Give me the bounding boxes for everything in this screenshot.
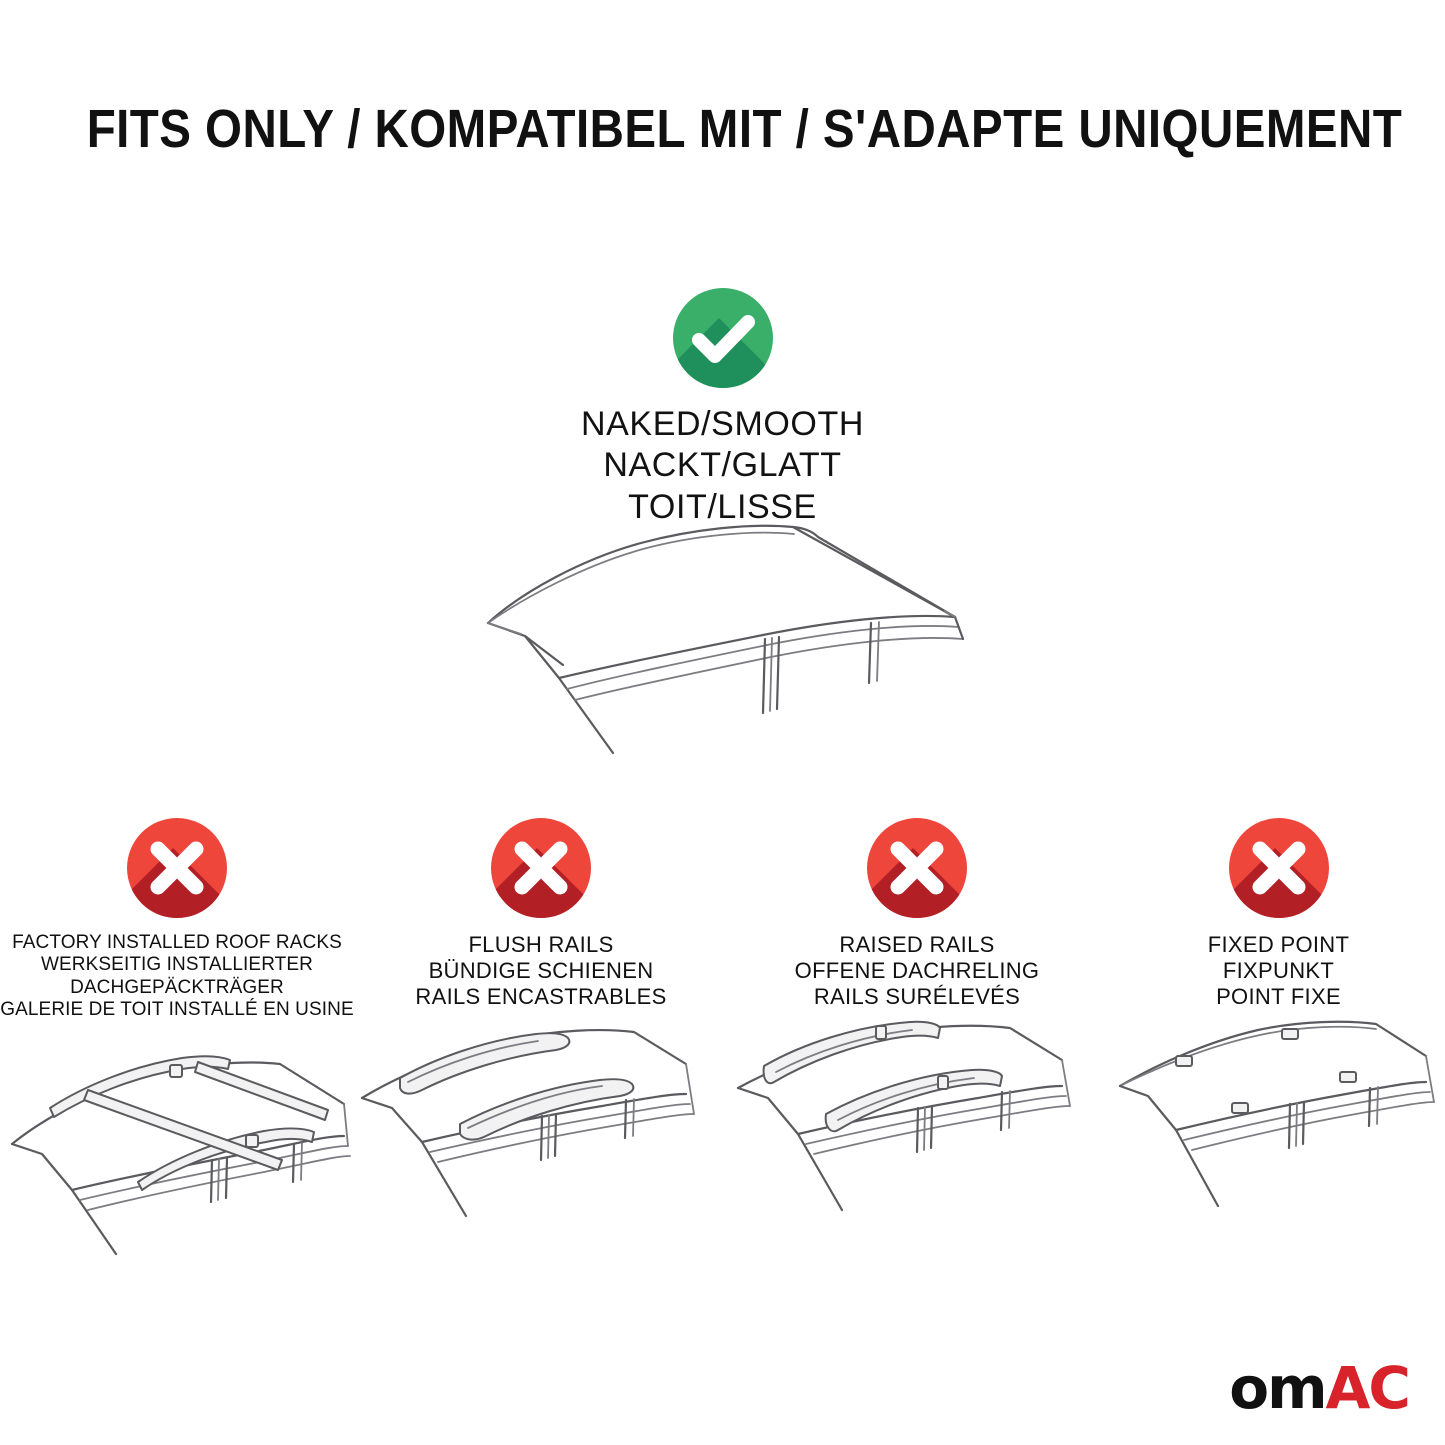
- label-en: FLUSH RAILS: [415, 932, 666, 958]
- car-roof-fixed-point-illustration: [1114, 1020, 1444, 1250]
- label-fr: RAILS SURÉLEVÉS: [795, 984, 1040, 1010]
- incompatible-section: FACTORY INSTALLED ROOF RACKS WERKSEITIG …: [0, 818, 1445, 1262]
- incompatible-label-factory-rack: FACTORY INSTALLED ROOF RACKS WERKSEITIG …: [0, 932, 354, 1022]
- compatible-section: NAKED/SMOOTH NACKT/GLATT TOIT/LISSE: [0, 288, 1445, 528]
- incompatible-item-flush-rails: FLUSH RAILS BÜNDIGE SCHIENEN RAILS ENCAS…: [356, 818, 726, 1250]
- incompatible-label-fixed-point: FIXED POINT FIXPUNKT POINT FIXE: [1208, 932, 1349, 1010]
- cross-icon: [491, 818, 591, 918]
- incompatible-item-factory-rack: FACTORY INSTALLED ROOF RACKS WERKSEITIG …: [0, 818, 362, 1262]
- logo-text-om: om: [1229, 1354, 1325, 1422]
- car-roof-flush-rails-illustration: [356, 1020, 726, 1250]
- label-de: BÜNDIGE SCHIENEN: [415, 958, 666, 984]
- incompatible-item-raised-rails: RAISED RAILS OFFENE DACHRELING RAILS SUR…: [732, 818, 1102, 1250]
- incompatible-label-flush-rails: FLUSH RAILS BÜNDIGE SCHIENEN RAILS ENCAS…: [415, 932, 666, 1010]
- incompatible-item-fixed-point: FIXED POINT FIXPUNKT POINT FIXE: [1112, 818, 1445, 1250]
- check-icon: [673, 288, 773, 388]
- label-fr: RAILS ENCASTRABLES: [415, 984, 666, 1010]
- logo-text-ac: AC: [1326, 1354, 1409, 1422]
- omac-logo: omAC: [1229, 1359, 1409, 1417]
- label-de-2: DACHGEPÄCKTRÄGER: [0, 977, 354, 999]
- label-de-1: WERKSEITIG INSTALLIERTER: [0, 954, 354, 976]
- car-roof-naked-smooth-illustration: [463, 503, 983, 763]
- car-roof-raised-rails-illustration: [732, 1020, 1102, 1250]
- label-en: FIXED POINT: [1208, 932, 1349, 958]
- label-fr: GALERIE DE TOIT INSTALLÉ EN USINE: [0, 999, 354, 1021]
- compatible-label-de: NACKT/GLATT: [0, 445, 1445, 486]
- compatibility-infographic: FITS ONLY / KOMPATIBEL MIT / S'ADAPTE UN…: [0, 0, 1445, 1445]
- label-en: RAISED RAILS: [795, 932, 1040, 958]
- car-roof-factory-rack-illustration: [0, 1032, 362, 1262]
- label-fr: POINT FIXE: [1208, 984, 1349, 1010]
- label-de: OFFENE DACHRELING: [795, 958, 1040, 984]
- page-title: FITS ONLY / KOMPATIBEL MIT / S'ADAPTE UN…: [87, 98, 1359, 160]
- cross-icon: [127, 818, 227, 918]
- cross-icon: [1229, 818, 1329, 918]
- compatible-label-en: NAKED/SMOOTH: [0, 404, 1445, 445]
- label-en: FACTORY INSTALLED ROOF RACKS: [0, 932, 354, 954]
- incompatible-label-raised-rails: RAISED RAILS OFFENE DACHRELING RAILS SUR…: [795, 932, 1040, 1010]
- cross-icon: [867, 818, 967, 918]
- label-de: FIXPUNKT: [1208, 958, 1349, 984]
